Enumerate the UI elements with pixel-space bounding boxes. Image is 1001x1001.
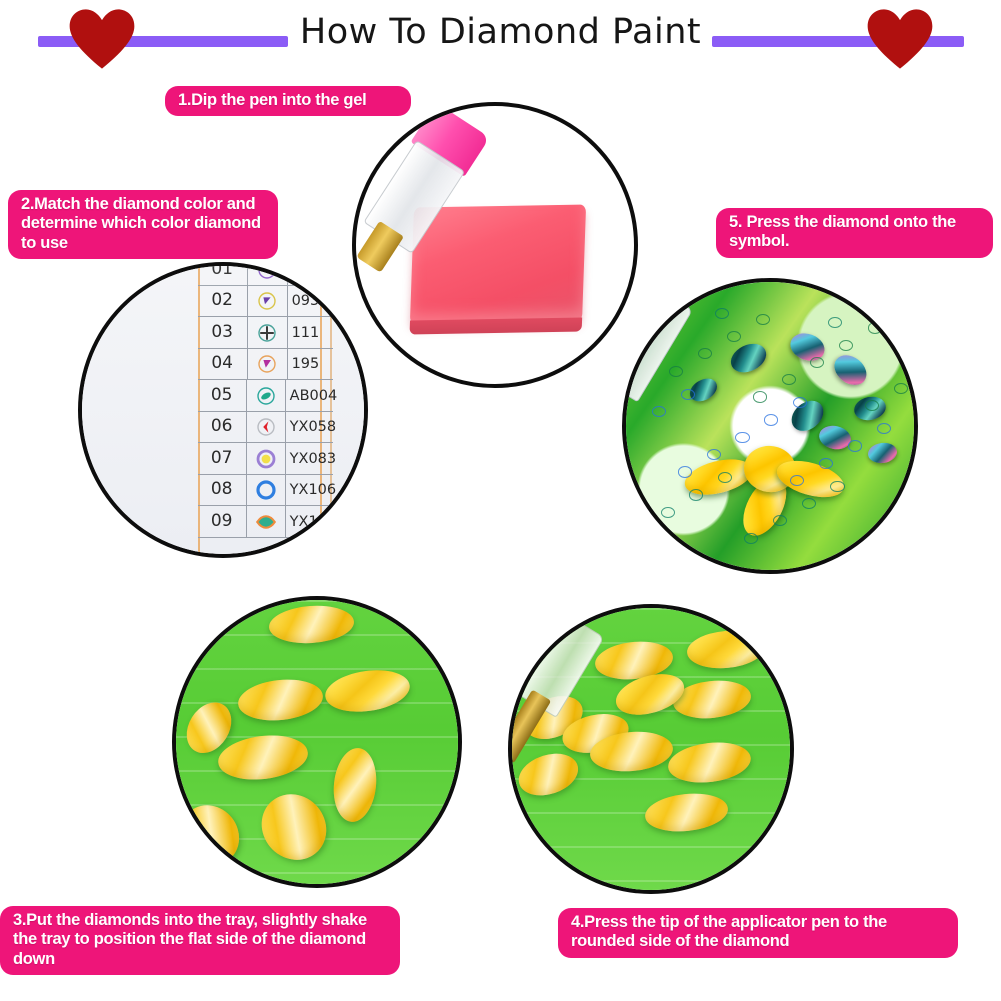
pen-dipping-into-gel-image [356,106,634,384]
step-1-photo [352,102,638,388]
table-row: 09YX125 [198,506,333,538]
page-title: How To Diamond Paint [0,12,1001,52]
canvas-symbol [681,389,695,400]
canvas-symbol [773,515,787,526]
pen-body [622,284,693,403]
canvas-symbol [894,383,908,394]
canvas-symbol [877,423,891,434]
diamond-gem [249,781,340,873]
code-number: 07 [198,443,247,475]
header: How To Diamond Paint [0,0,1001,78]
plus-circle-icon [248,317,288,348]
canvas-symbol [782,374,796,385]
step-5-photo [622,278,918,574]
canvas-symbol [727,331,741,342]
color-chart-paper: 0102802093031110419505AB00406YX05807YX08… [82,266,364,554]
table-row: 02093 [198,286,333,318]
code-number: 05 [198,380,247,412]
teal-leaf-orange-outline-icon [247,506,286,537]
double-dot-circle-icon [248,262,288,285]
green-tray-image [512,608,790,890]
canvas-symbol [669,366,683,377]
canvas-symbol [868,322,882,333]
color-code: YX058 [286,419,333,435]
table-row: 04195 [198,349,333,381]
canvas-symbol [698,348,712,359]
oval-slash-circle-icon [247,380,286,411]
canvas-symbol [735,432,749,443]
canvas-symbol [839,340,853,351]
color-code: YX125 [286,514,333,530]
gel-block [409,205,586,325]
canvas-symbol [830,481,844,492]
color-code: AB004 [286,388,333,404]
diamond-gem [672,677,753,722]
yellow-dot-purple-ring-icon [247,443,286,474]
canvas-symbol [744,533,758,544]
canvas-symbol [810,357,824,368]
color-code: 195 [288,356,333,372]
canvas-symbol [689,489,703,500]
canvas-symbol [856,541,870,552]
canvas-symbol [715,308,729,319]
diamond-gem [330,746,380,824]
canvas-symbol [756,314,770,325]
diamond-gem [644,790,731,835]
diamond-gem [666,738,754,787]
table-row: 06YX058 [198,412,333,444]
blue-ring-icon [247,475,286,506]
step-2-label: 2.Match the diamond color and determine … [8,190,278,259]
table-row: 03111 [198,317,333,349]
canvas-symbol [885,524,899,535]
red-arrow-circle-icon [247,412,286,443]
pen-tip [508,689,551,763]
canvas-symbol [848,440,862,451]
diamond-gem [686,627,767,670]
canvas-symbol [661,507,675,518]
magenta-triangle-circle-icon [248,349,288,380]
step-3-label: 3.Put the diamonds into the tray, slight… [0,906,400,975]
applicator-pen [622,284,692,447]
diamond-gem [172,794,251,878]
canvas-gem [867,441,898,465]
diamond-gem [216,731,311,784]
color-code: YX106 [286,482,333,498]
color-code: YX083 [286,451,333,467]
code-number: 09 [198,506,247,538]
table-row: 08YX106 [198,475,333,507]
step-2-photo: 0102802093031110419505AB00406YX05807YX08… [78,262,368,558]
code-number: 03 [198,317,248,349]
canvas-symbol [828,317,842,328]
code-number: 06 [198,411,247,443]
triangle-circle-icon [248,286,288,317]
table-row: 01028 [198,262,333,286]
color-code-table: 0102802093031110419505AB00406YX05807YX08… [198,262,333,538]
diamond-gem [323,665,412,716]
diamond-gem [268,603,355,646]
code-number: 01 [198,262,248,285]
canvas-symbol [753,391,767,402]
canvas-symbol [678,466,692,477]
green-tray-image [176,600,458,884]
code-number: 08 [198,474,247,506]
canvas-symbol [802,498,816,509]
printed-canvas-image [626,282,914,570]
step-5-label: 5. Press the diamond onto the symbol. [716,208,993,258]
canvas-symbol [652,406,666,417]
table-row: 05AB004 [198,380,333,412]
color-code: 093 [288,293,333,309]
infographic-canvas: How To Diamond Paint 1.Dip the pen into … [0,0,1001,1001]
step-3-photo [172,596,462,888]
canvas-symbol [819,458,833,469]
color-code: 028 [288,262,333,278]
diamond-gem [236,675,324,723]
canvas-symbol [707,449,721,460]
code-number: 02 [198,285,248,317]
code-number: 04 [198,348,248,380]
canvas-gem [829,349,872,391]
step-4-photo [508,604,794,894]
canvas-gem [726,338,771,378]
canvas-symbol [764,414,778,425]
color-code: 111 [288,325,333,341]
table-row: 07YX083 [198,443,333,475]
step-4-label: 4.Press the tip of the applicator pen to… [558,908,958,958]
